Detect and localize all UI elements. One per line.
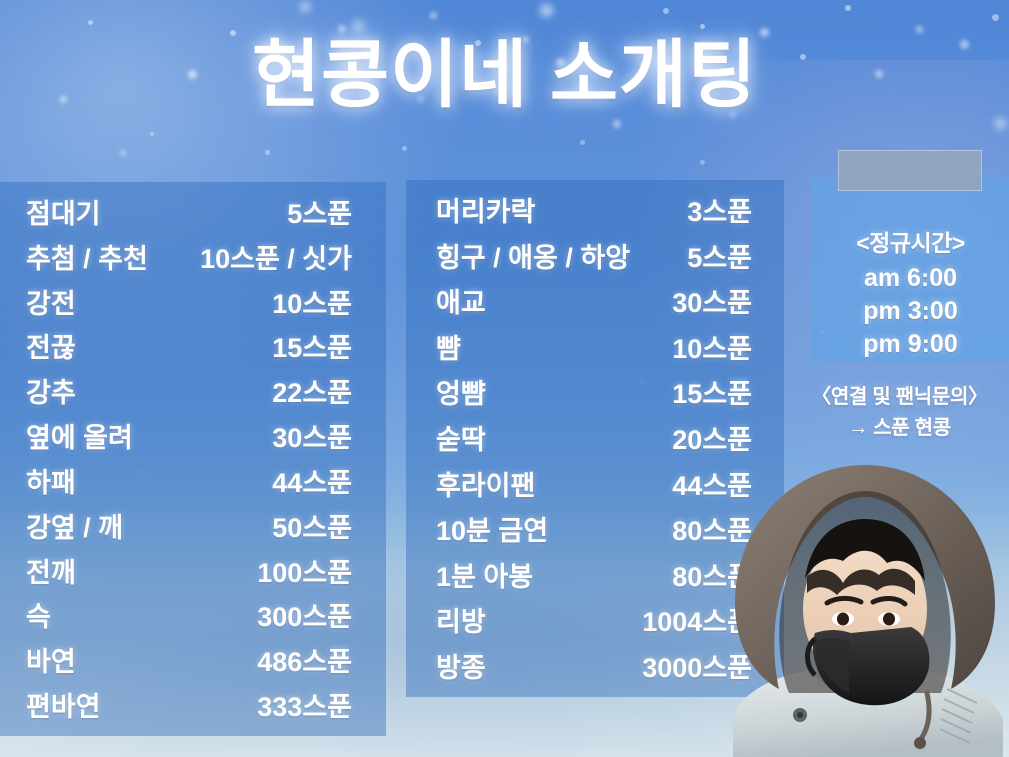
price-row-label: 숟딱 — [424, 418, 486, 457]
price-row: 옆에 올려30스푼 — [18, 416, 368, 455]
price-row-value: 50스푼 — [272, 506, 368, 545]
contact-note: 〈연결 및 팬닉문의〉 → 스푼 현콩 — [790, 382, 1009, 444]
schedule-time-3: pm 9:00 — [812, 328, 1009, 361]
price-row-value: 5스푼 — [687, 236, 766, 275]
price-row: 슥300스푼 — [18, 595, 368, 634]
price-row-label: 후라이팬 — [424, 464, 535, 503]
price-row-value: 30스푼 — [272, 416, 368, 455]
price-row: 강추22스푼 — [18, 371, 368, 410]
price-panel-right: 머리카락3스푼힝구 / 애옹 / 하앙5스푼애교30스푼뺨10스푼엉뺨15스푼숟… — [406, 180, 784, 697]
price-row-value: 300스푼 — [257, 595, 368, 634]
price-row-label: 점대기 — [18, 192, 101, 231]
price-row: 전깨100스푼 — [18, 551, 368, 590]
price-panel-left: 점대기5스푼추첨 / 추천10스푼 / 싯가강전10스푼전끊15스푼강추22스푼… — [0, 182, 386, 736]
price-row-label: 바연 — [18, 640, 76, 679]
price-row-label: 방종 — [424, 646, 486, 685]
price-row-value: 5스푼 — [287, 192, 368, 231]
price-row: 바연486스푼 — [18, 640, 368, 679]
price-row-value: 10스푼 — [672, 327, 766, 366]
price-row-value: 15스푼 — [672, 372, 766, 411]
price-row-label: 옆에 올려 — [18, 416, 133, 455]
price-row-list-left: 점대기5스푼추첨 / 추천10스푼 / 싯가강전10스푼전끊15스푼강추22스푼… — [18, 192, 368, 724]
price-row-label: 강옆 / 깨 — [18, 506, 123, 545]
price-row: 추첨 / 추천10스푼 / 싯가 — [18, 237, 368, 276]
schedule-box: <정규시간> am 6:00 pm 3:00 pm 9:00 — [812, 178, 1009, 362]
price-row-value: 3스푼 — [687, 190, 766, 229]
price-row-label: 엉뺨 — [424, 372, 486, 411]
slide-canvas: 현콩이네 소개팅 점대기5스푼추첨 / 추천10스푼 / 싯가강전10스푼전끊1… — [0, 0, 1009, 757]
price-row-label: 강추 — [18, 371, 76, 410]
price-row-value: 15스푼 — [272, 326, 368, 365]
price-row-value: 3000스푼 — [642, 646, 766, 685]
price-row-label: 하패 — [18, 461, 76, 500]
schedule-content: <정규시간> am 6:00 pm 3:00 pm 9:00 — [812, 224, 1009, 361]
price-row-value: 10스푼 / 싯가 — [200, 237, 368, 276]
price-row-value: 10스푼 — [272, 282, 368, 321]
price-row-label: 뺨 — [424, 327, 461, 366]
price-row-label: 애교 — [424, 281, 486, 320]
price-row-label: 머리카락 — [424, 190, 535, 229]
price-row-label: 슥 — [18, 595, 51, 634]
price-row-label: 1분 아봉 — [424, 555, 533, 594]
price-row: 애교30스푼 — [424, 281, 766, 320]
price-row-value: 486스푼 — [257, 640, 368, 679]
contact-heading: 〈연결 및 팬닉문의〉 — [790, 382, 1009, 413]
price-row-list-right: 머리카락3스푼힝구 / 애옹 / 하앙5스푼애교30스푼뺨10스푼엉뺨15스푼숟… — [424, 190, 766, 685]
price-row-value: 44스푼 — [272, 461, 368, 500]
price-row-label: 편바연 — [18, 685, 101, 724]
price-row-label: 강전 — [18, 282, 76, 321]
price-row: 강전10스푼 — [18, 282, 368, 321]
price-row-label: 10분 금연 — [424, 509, 548, 548]
price-row-label: 힝구 / 애옹 / 하앙 — [424, 236, 630, 275]
price-row: 강옆 / 깨50스푼 — [18, 506, 368, 545]
price-row: 엉뺨15스푼 — [424, 372, 766, 411]
price-row-label: 리방 — [424, 600, 486, 639]
price-row: 점대기5스푼 — [18, 192, 368, 231]
price-row: 머리카락3스푼 — [424, 190, 766, 229]
price-row: 10분 금연80스푼 — [424, 509, 766, 548]
price-row-value: 1004스푼 — [642, 600, 766, 639]
price-row-value: 333스푼 — [257, 685, 368, 724]
schedule-title: <정규시간> — [812, 224, 1009, 258]
price-row: 하패44스푼 — [18, 461, 368, 500]
price-row-value: 30스푼 — [672, 281, 766, 320]
price-row: 방종3000스푼 — [424, 646, 766, 685]
page-title: 현콩이네 소개팅 — [0, 36, 1009, 114]
price-row-label: 추첨 / 추천 — [18, 237, 148, 276]
price-row: 힝구 / 애옹 / 하앙5스푼 — [424, 236, 766, 275]
price-row: 후라이팬44스푼 — [424, 464, 766, 503]
price-row-value: 100스푼 — [257, 551, 368, 590]
price-row: 뺨10스푼 — [424, 327, 766, 366]
price-row: 편바연333스푼 — [18, 685, 368, 724]
schedule-time-1: am 6:00 — [812, 262, 1009, 295]
price-row: 전끊15스푼 — [18, 326, 368, 365]
price-row: 1분 아봉80스푼 — [424, 555, 766, 594]
price-row: 숟딱20스푼 — [424, 418, 766, 457]
price-row-label: 전깨 — [18, 551, 76, 590]
price-row-label: 전끊 — [18, 326, 76, 365]
price-row-value: 80스푼 — [672, 509, 766, 548]
redaction-block — [838, 150, 982, 191]
price-row: 리방1004스푼 — [424, 600, 766, 639]
contact-detail: → 스푼 현콩 — [790, 413, 1009, 444]
price-row-value: 22스푼 — [272, 371, 368, 410]
price-row-value: 80스푼 — [672, 555, 766, 594]
price-row-value: 20스푼 — [672, 418, 766, 457]
price-row-value: 44스푼 — [672, 464, 766, 503]
schedule-time-2: pm 3:00 — [812, 295, 1009, 328]
